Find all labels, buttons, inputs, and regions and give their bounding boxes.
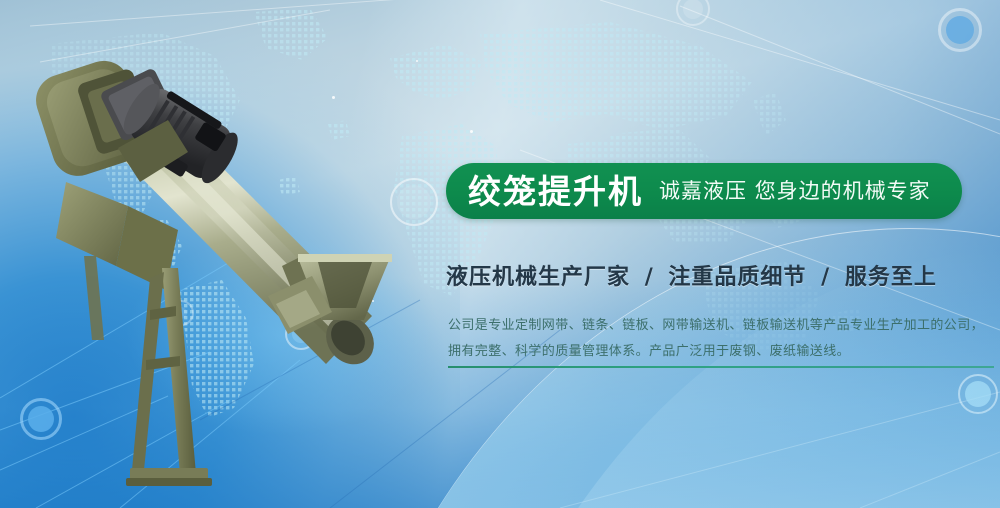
- content-column: 绞笼提升机 诚嘉液压 您身边的机械专家 液压机械生产厂家 / 注重品质细节 / …: [446, 0, 1000, 508]
- description-line-2: 拥有完整、科学的质量管理体系。产品广泛用于废钢、废纸输送线。: [448, 339, 992, 365]
- sparkle-dot: [332, 96, 335, 99]
- sparkle-dot: [130, 160, 132, 162]
- ring-bottom-left-icon: [20, 398, 62, 440]
- feature-subtitle: 液压机械生产厂家 / 注重品质细节 / 服务至上: [446, 259, 937, 291]
- headline-pill: 绞笼提升机 诚嘉液压 您身边的机械专家: [446, 163, 962, 219]
- ring-map-left-icon: [285, 318, 317, 350]
- ring-mid-left-icon: [168, 300, 194, 326]
- feature-item-1: 液压机械生产厂家: [446, 265, 630, 290]
- sparkle-dot: [416, 60, 418, 62]
- feature-separator-1: /: [639, 265, 660, 290]
- product-title: 绞笼提升机: [468, 175, 643, 208]
- hero-banner: 绞笼提升机 诚嘉液压 您身边的机械专家 液压机械生产厂家 / 注重品质细节 / …: [0, 0, 1000, 508]
- sparkle-dot: [286, 236, 288, 238]
- feature-item-2: 注重品质细节: [668, 265, 806, 290]
- feature-item-3: 服务至上: [845, 265, 937, 290]
- green-divider-line: [448, 366, 994, 368]
- description-line-1: 公司是专业定制网带、链条、链板、网带输送机、链板输送机等产品专业生产加工的公司，: [448, 313, 992, 339]
- sparkle-dot: [372, 300, 374, 302]
- company-tagline: 诚嘉液压 您身边的机械专家: [659, 181, 931, 202]
- company-description: 公司是专业定制网带、链条、链板、网带输送机、链板输送机等产品专业生产加工的公司，…: [448, 313, 992, 365]
- feature-separator-2: /: [815, 265, 836, 290]
- ring-map-center-icon: [390, 178, 438, 226]
